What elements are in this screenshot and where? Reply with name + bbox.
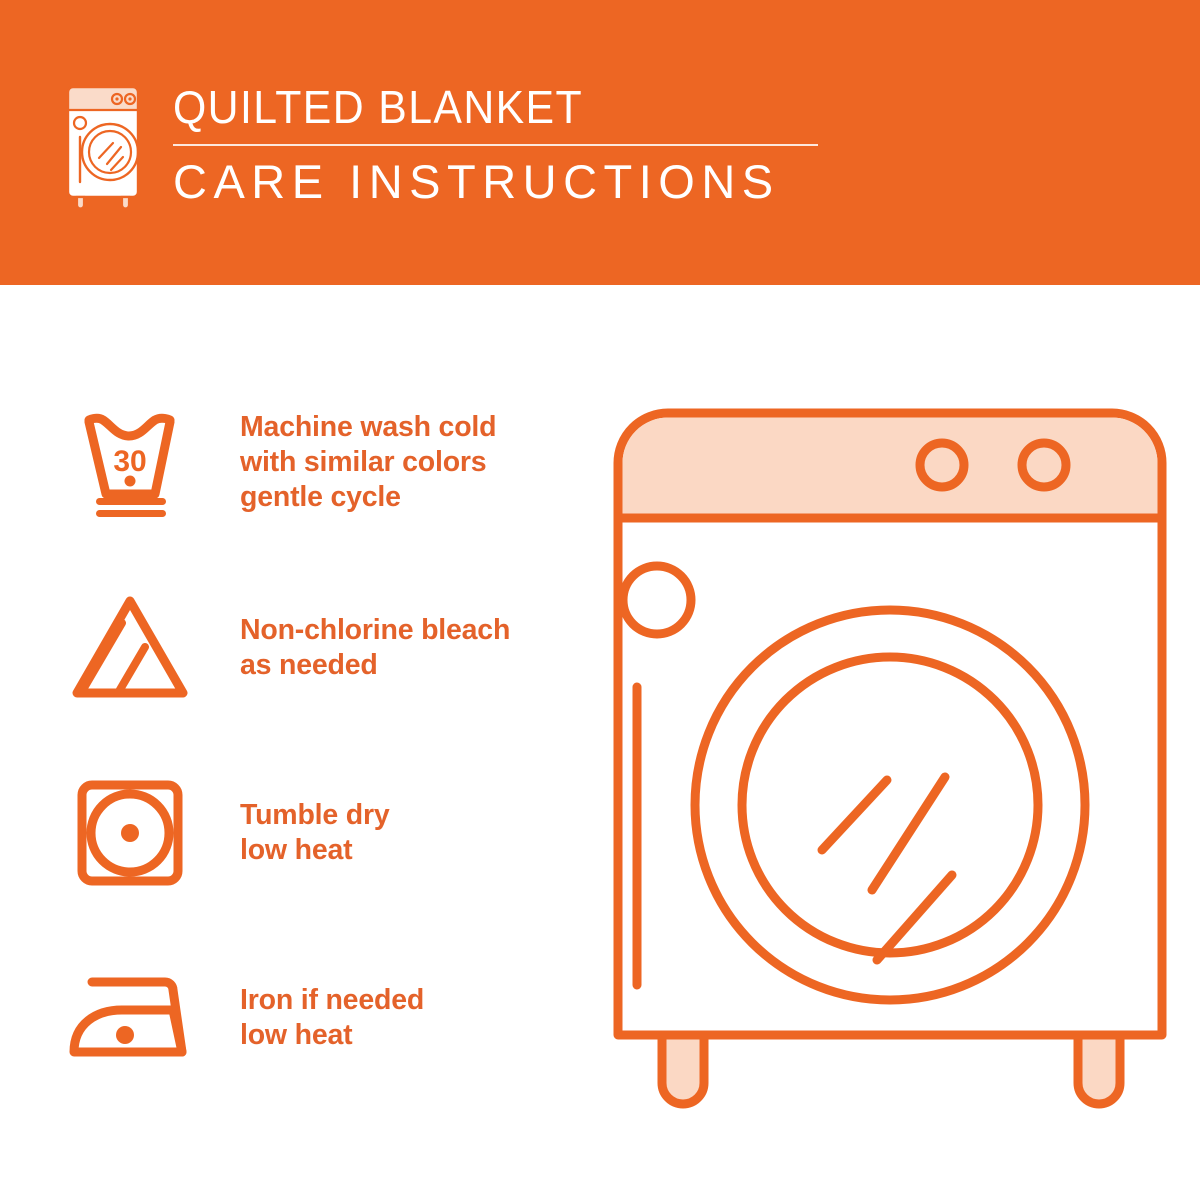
machine-leg-left (662, 1035, 704, 1104)
machine-leg-right (1078, 1035, 1120, 1104)
care-text-dry: Tumble dry low heat (240, 798, 390, 868)
tumble-dry-icon (71, 774, 189, 892)
care-instruction-list: 30 Machine wash cold with similar colors… (55, 400, 575, 1080)
care-row-bleach: Non-chlorine bleach as needed (55, 585, 575, 710)
iron-icon (60, 968, 200, 1068)
care-text-wash: Machine wash cold with similar colors ge… (240, 410, 496, 515)
bleach-triangle-icon (65, 589, 195, 707)
page-title: QUILTED BLANKET (173, 82, 773, 132)
page-subtitle: CARE INSTRUCTIONS (173, 156, 818, 208)
washing-machine-illustration (600, 395, 1180, 1125)
header-content: QUILTED BLANKET CARE INSTRUCTIONS (55, 78, 818, 210)
care-row-wash: 30 Machine wash cold with similar colors… (55, 400, 575, 525)
care-symbol-wash: 30 (55, 404, 205, 522)
wash-tub-icon: 30 (63, 404, 198, 522)
care-text-iron: Iron if needed low heat (240, 983, 424, 1053)
care-row-dry: Tumble dry low heat (55, 770, 575, 895)
care-text-bleach: Non-chlorine bleach as needed (240, 613, 510, 683)
title-block: QUILTED BLANKET CARE INSTRUCTIONS (173, 82, 818, 208)
care-symbol-iron (55, 968, 205, 1068)
washing-machine-icon (55, 82, 151, 210)
care-symbol-dry (55, 774, 205, 892)
care-row-iron: Iron if needed low heat (55, 955, 575, 1080)
care-symbol-bleach (55, 589, 205, 707)
content-area: 30 Machine wash cold with similar colors… (0, 285, 1200, 1200)
wash-temperature-label: 30 (113, 445, 146, 478)
header-banner: QUILTED BLANKET CARE INSTRUCTIONS (0, 0, 1200, 285)
title-divider (173, 144, 818, 146)
